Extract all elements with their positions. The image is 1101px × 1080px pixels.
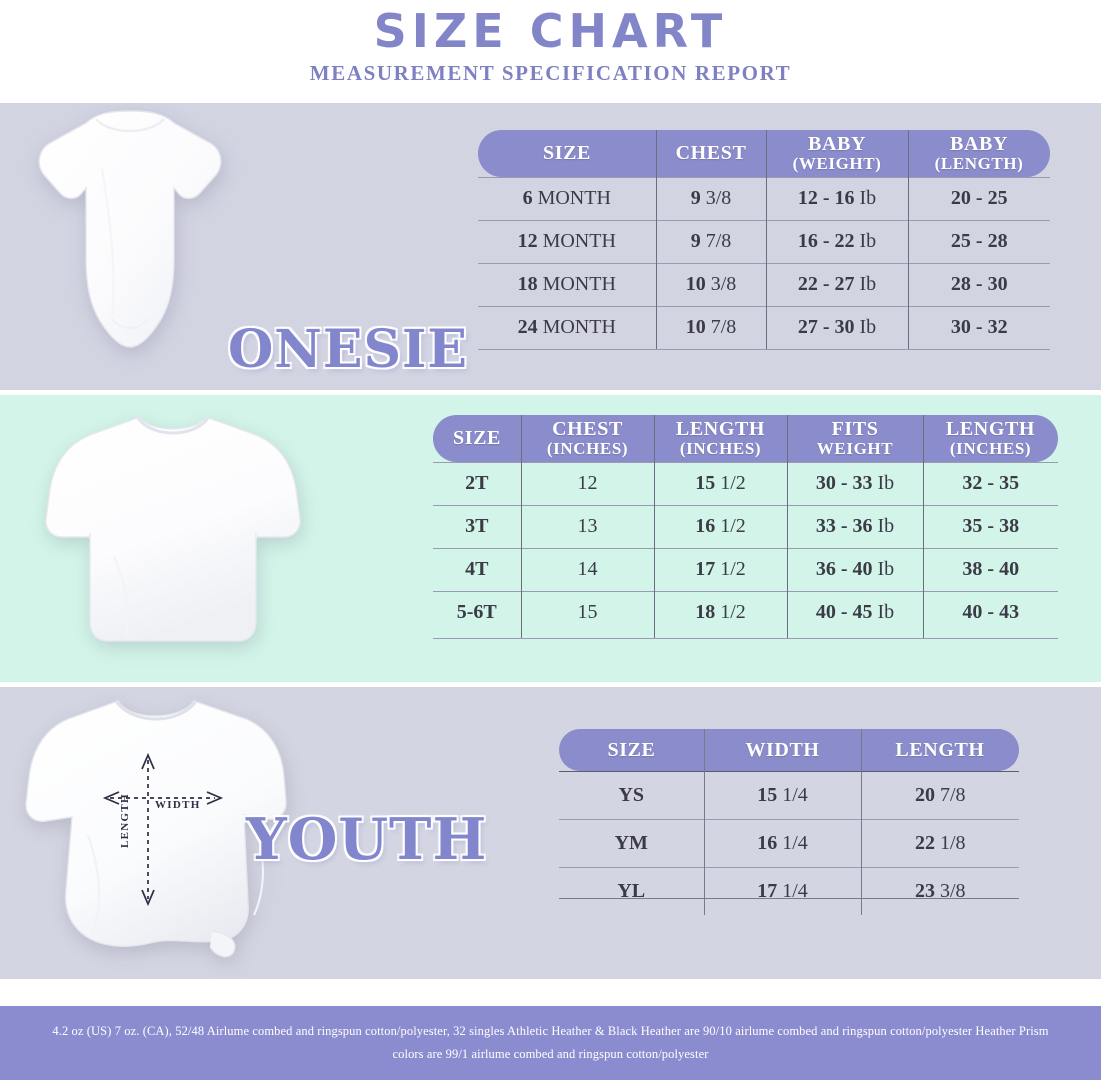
cell-length: 16 1/2 <box>654 505 787 548</box>
page-title: SIZE CHART <box>374 6 728 58</box>
table-row: 12 MONTH 9 7/8 16 - 22 Ib 25 - 28 <box>478 220 1050 263</box>
cell-fits-weight: 30 - 33 Ib <box>787 462 923 505</box>
cell-chest: 13 <box>521 505 654 548</box>
table-row: 3T 13 16 1/2 33 - 36 Ib 35 - 38 <box>433 505 1058 548</box>
col-header-fits-weight: FITS WEIGHT <box>787 415 923 462</box>
table-row: 24 MONTH 10 7/8 27 - 30 Ib 30 - 32 <box>478 306 1050 349</box>
youth-table-area: SIZE WIDTH LENGTH YS 15 1/4 20 <box>468 687 1101 979</box>
table-column-rule <box>861 729 862 899</box>
col-header-main: SIZE <box>433 428 521 448</box>
cell-size: YS <box>559 771 704 819</box>
cell-width: 17 1/4 <box>704 867 861 915</box>
table-column-rule <box>908 130 909 350</box>
cell-size: 3T <box>433 505 521 548</box>
onesie-size-table: SIZE CHEST BABY (WEIGHT) BABY (LENGTH) <box>478 130 1050 349</box>
col-header-size: SIZE <box>559 729 704 771</box>
cell-weight: 12 - 16 Ib <box>766 177 908 220</box>
cell-length-2: 32 - 35 <box>923 462 1058 505</box>
table-row: YS 15 1/4 20 7/8 <box>559 771 1019 819</box>
size-chart-page: SIZE CHART MEASUREMENT SPECIFICATION REP… <box>0 0 1101 1080</box>
section-toddler: TODDLER SIZE CHEST (INCHES) <box>0 395 1101 682</box>
cell-length: 28 - 30 <box>908 263 1050 306</box>
col-header-length-2: LENGTH (INCHES) <box>923 415 1058 462</box>
table-row: YL 17 1/4 23 3/8 <box>559 867 1019 915</box>
col-header-main: LENGTH <box>923 419 1058 439</box>
table-column-rule <box>704 729 705 899</box>
cell-chest: 12 <box>521 462 654 505</box>
col-header-sub: (INCHES) <box>521 440 654 457</box>
col-header-main: LENGTH <box>861 740 1019 760</box>
table-header-row: SIZE CHEST BABY (WEIGHT) BABY (LENGTH) <box>478 130 1050 177</box>
cell-length: 20 7/8 <box>861 771 1019 819</box>
cell-length: 25 - 28 <box>908 220 1050 263</box>
col-header-sub: (LENGTH) <box>908 155 1050 172</box>
baby-onesie-illustration <box>24 109 236 371</box>
table-header-row: SIZE WIDTH LENGTH <box>559 729 1019 771</box>
footer-fabric-note: 4.2 oz (US) 7 oz. (CA), 52/48 Airlume co… <box>42 1020 1059 1066</box>
col-header-sub: WEIGHT <box>787 440 923 457</box>
cell-size: 5-6T <box>433 591 521 634</box>
cell-size: 4T <box>433 548 521 591</box>
toddler-size-table: SIZE CHEST (INCHES) LENGTH (INCHES) FITS <box>433 415 1058 634</box>
cell-chest: 15 <box>521 591 654 634</box>
cell-fits-weight: 33 - 36 Ib <box>787 505 923 548</box>
col-header-main: CHEST <box>521 419 654 439</box>
col-header-width: WIDTH <box>704 729 861 771</box>
table-row: YM 16 1/4 22 1/8 <box>559 819 1019 867</box>
table-column-rule <box>656 130 657 350</box>
col-header-sub: (INCHES) <box>923 440 1058 457</box>
cell-length-2: 38 - 40 <box>923 548 1058 591</box>
cell-weight: 22 - 27 Ib <box>766 263 908 306</box>
cell-length: 17 1/2 <box>654 548 787 591</box>
col-header-main: BABY <box>766 134 908 154</box>
col-header-main: WIDTH <box>704 740 861 760</box>
cell-width: 16 1/4 <box>704 819 861 867</box>
cell-size: YM <box>559 819 704 867</box>
onesie-table-area: SIZE CHEST BABY (WEIGHT) BABY (LENGTH) <box>468 103 1101 390</box>
table-row: 6 MONTH 9 3/8 12 - 16 Ib 20 - 25 <box>478 177 1050 220</box>
cell-size: YL <box>559 867 704 915</box>
youth-size-table: SIZE WIDTH LENGTH YS 15 1/4 20 <box>559 729 1019 915</box>
col-header-baby-length: BABY (LENGTH) <box>908 130 1050 177</box>
table-column-rule <box>521 415 522 639</box>
table-column-rule <box>654 415 655 639</box>
col-header-baby-weight: BABY (WEIGHT) <box>766 130 908 177</box>
table-row: 18 MONTH 10 3/8 22 - 27 Ib 28 - 30 <box>478 263 1050 306</box>
cell-length: 23 3/8 <box>861 867 1019 915</box>
section-label-youth: YOUTH <box>246 806 487 873</box>
youth-illustration-area: YOUTH <box>0 687 468 979</box>
table-row: 5-6T 15 18 1/2 40 - 45 Ib 40 - 43 <box>433 591 1058 634</box>
cell-length-2: 40 - 43 <box>923 591 1058 634</box>
cell-weight: 27 - 30 Ib <box>766 306 908 349</box>
table-row: 2T 12 15 1/2 30 - 33 Ib 32 - 35 <box>433 462 1058 505</box>
cell-size: 24 MONTH <box>478 306 656 349</box>
col-header-chest: CHEST (INCHES) <box>521 415 654 462</box>
col-header-main: FITS <box>787 419 923 439</box>
toddler-illustration-area: TODDLER <box>0 395 468 682</box>
cell-width: 15 1/4 <box>704 771 861 819</box>
col-header-chest: CHEST <box>656 130 766 177</box>
table-header-row: SIZE CHEST (INCHES) LENGTH (INCHES) FITS <box>433 415 1058 462</box>
table-column-rule <box>787 415 788 639</box>
col-header-main: CHEST <box>656 143 766 163</box>
cell-size: 18 MONTH <box>478 263 656 306</box>
table-bottom-rule <box>559 898 1019 899</box>
cell-chest: 9 3/8 <box>656 177 766 220</box>
cell-chest: 9 7/8 <box>656 220 766 263</box>
cell-fits-weight: 40 - 45 Ib <box>787 591 923 634</box>
col-header-size: SIZE <box>478 130 656 177</box>
cell-size: 2T <box>433 462 521 505</box>
cell-chest: 10 3/8 <box>656 263 766 306</box>
section-youth: YOUTH SIZE WIDTH LENGTH <box>0 687 1101 979</box>
col-header-sub: (INCHES) <box>654 440 787 457</box>
table-column-rule <box>766 130 767 350</box>
toddler-table-area: SIZE CHEST (INCHES) LENGTH (INCHES) FITS <box>468 395 1101 682</box>
col-header-main: SIZE <box>559 740 704 760</box>
col-header-main: BABY <box>908 134 1050 154</box>
col-header-size: SIZE <box>433 415 521 462</box>
toddler-tshirt-illustration <box>42 407 304 657</box>
cell-length: 30 - 32 <box>908 306 1050 349</box>
cell-fits-weight: 36 - 40 Ib <box>787 548 923 591</box>
section-onesie: ONESIE SIZE CHEST BABY <box>0 103 1101 390</box>
cell-chest: 14 <box>521 548 654 591</box>
page-header: SIZE CHART MEASUREMENT SPECIFICATION REP… <box>0 0 1101 103</box>
cell-length: 22 1/8 <box>861 819 1019 867</box>
cell-weight: 16 - 22 Ib <box>766 220 908 263</box>
col-header-length: LENGTH (INCHES) <box>654 415 787 462</box>
cell-size: 12 MONTH <box>478 220 656 263</box>
col-header-length: LENGTH <box>861 729 1019 771</box>
onesie-illustration-area: ONESIE <box>0 103 468 390</box>
cell-length: 20 - 25 <box>908 177 1050 220</box>
cell-length-2: 35 - 38 <box>923 505 1058 548</box>
table-bottom-rule <box>433 638 1058 639</box>
table-row: 4T 14 17 1/2 36 - 40 Ib 38 - 40 <box>433 548 1058 591</box>
col-header-main: LENGTH <box>654 419 787 439</box>
cell-length: 15 1/2 <box>654 462 787 505</box>
cell-size: 6 MONTH <box>478 177 656 220</box>
col-header-main: SIZE <box>478 143 656 163</box>
cell-length: 18 1/2 <box>654 591 787 634</box>
col-header-sub: (WEIGHT) <box>766 155 908 172</box>
cell-chest: 10 7/8 <box>656 306 766 349</box>
table-bottom-rule <box>478 349 1050 350</box>
page-subtitle: MEASUREMENT SPECIFICATION REPORT <box>310 61 791 86</box>
table-column-rule <box>923 415 924 639</box>
section-label-onesie: ONESIE <box>228 319 468 380</box>
footer-bar: 4.2 oz (US) 7 oz. (CA), 52/48 Airlume co… <box>0 1006 1101 1080</box>
